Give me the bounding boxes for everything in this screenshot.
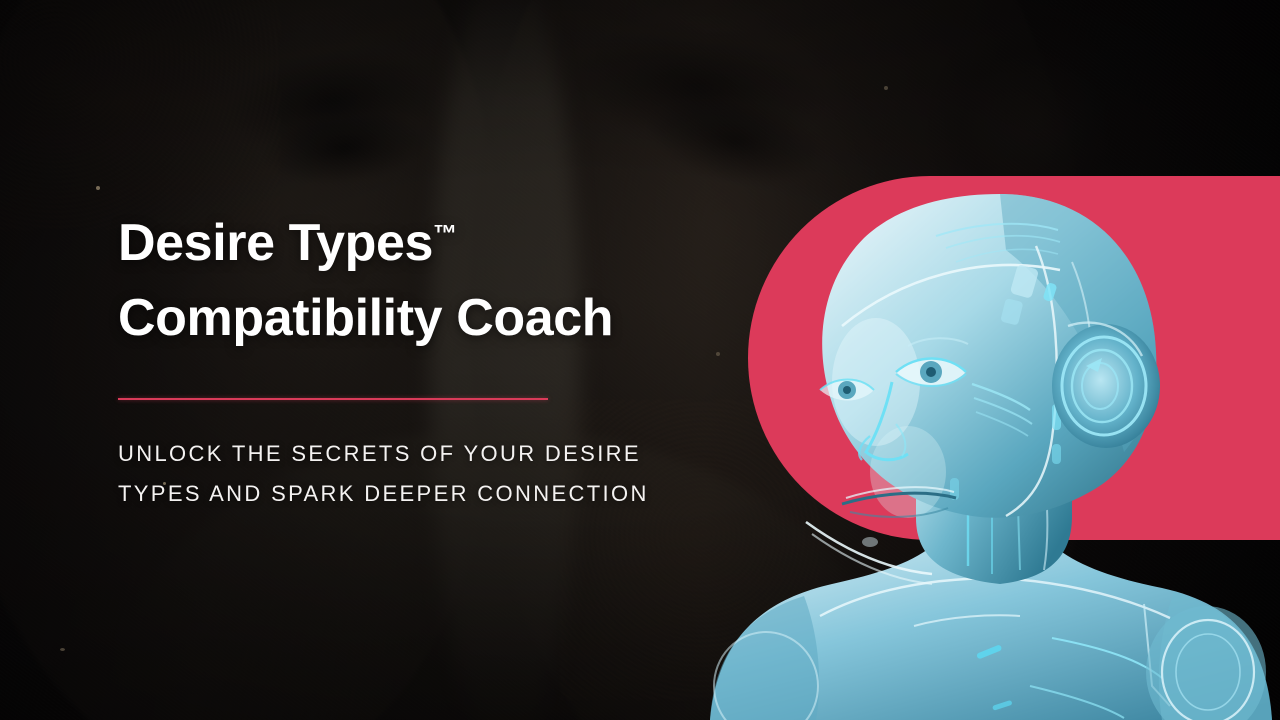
accent-divider <box>118 398 548 400</box>
background-speck <box>884 86 888 90</box>
banner-canvas: Desire Types™ Compatibility Coach Unlock… <box>0 0 1280 720</box>
background-speck <box>60 648 65 651</box>
title-line-2: Compatibility Coach <box>118 289 613 347</box>
subtitle: Unlock the secrets of your Desire Types … <box>118 434 718 514</box>
ai-robot-figure <box>700 186 1280 720</box>
page-title: Desire Types™ Compatibility Coach <box>118 206 738 356</box>
trademark-symbol: ™ <box>433 221 457 248</box>
background-speck <box>96 186 100 190</box>
title-line-1: Desire Types <box>118 214 433 272</box>
headline-block: Desire Types™ Compatibility Coach Unlock… <box>118 206 738 514</box>
